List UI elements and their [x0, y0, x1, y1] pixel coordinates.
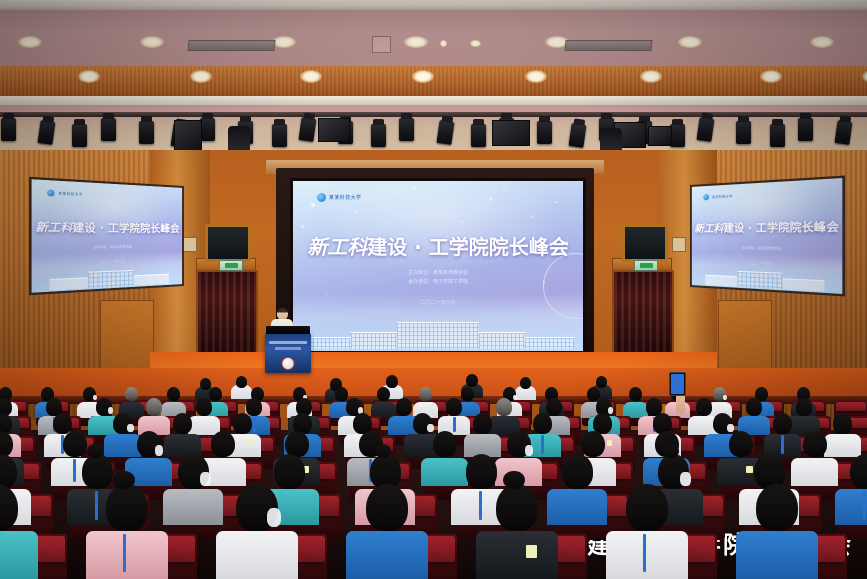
attendee-head [833, 413, 852, 434]
attendee-lanyard [253, 417, 256, 432]
attendee-face-mask [127, 424, 133, 433]
control-window-left [205, 224, 251, 262]
ceiling-downlight [525, 70, 547, 83]
panel-lamp-3 [492, 120, 530, 146]
left-side-screen: 某某科技大学 新工科建设 · 工学院院长峰会 主办单位：某某高校教务处 二〇二一… [29, 177, 184, 296]
control-window-right [622, 224, 668, 262]
sparkle [503, 189, 505, 191]
ceiling-downlight [404, 36, 428, 48]
attendee-head [746, 398, 762, 416]
attendee-head [196, 398, 212, 416]
left-screen-title: 新工科建设 · 工学院院长峰会 [32, 217, 183, 235]
attendee-lanyard [781, 435, 784, 453]
attendee-head [581, 431, 605, 458]
attendee-head gray [146, 398, 162, 416]
ceiling-downlight [810, 36, 834, 48]
left-screen-subtitle: 主办单位：某某高校教务处 [32, 244, 183, 250]
slide-subtitle-1: 主办单位：某某高校教务处 [293, 269, 583, 276]
ceiling-downlight [140, 36, 164, 48]
attendee-lanyard [541, 435, 544, 453]
raised-phone [669, 372, 686, 396]
attendee-head [377, 387, 390, 402]
sparkle [555, 201, 557, 203]
attendee-head [233, 413, 252, 434]
attendee-badge [746, 466, 752, 474]
attendee-face-mask [427, 424, 433, 433]
attendee-head [211, 431, 235, 458]
attendee-shoulders [421, 458, 468, 486]
slide-title-calligraphy: 新工科 [307, 235, 367, 259]
attendee-head gray [125, 387, 138, 402]
attendee-head [546, 398, 562, 416]
stage-light-fixture [298, 117, 316, 142]
podium [265, 333, 311, 373]
ceiling-upper-band [0, 10, 867, 66]
left-screen-title-block: 建设 · 工学院院长峰会 [72, 222, 179, 235]
attendee-shoulders [188, 416, 219, 435]
slide-main-title: 新工科建设 · 工学院院长峰会 [293, 231, 583, 260]
slide-title-block: 建设 · 工学院院长峰会 [367, 235, 569, 259]
logo-mark [703, 194, 709, 200]
attendee-head [446, 398, 462, 416]
attendee-head [246, 398, 262, 416]
stage-light-fixture [471, 124, 486, 147]
attendee-face-mask [155, 445, 163, 456]
attendee-badge [607, 440, 612, 446]
attendee-head-far [386, 375, 398, 388]
slide-university-logo: 某某科技大学 [317, 193, 361, 202]
main-projection-screen: 某某科技大学 新工科建设 · 工学院院长峰会 主办单位：某某高校教务处 承办单位… [290, 178, 586, 354]
attendee-badge [247, 440, 252, 446]
left-screen-illustration [32, 251, 183, 292]
attendee-face-mask [680, 472, 691, 486]
attendee-badge [526, 545, 537, 558]
podium-display-panel [266, 326, 310, 334]
attendee-shoulders [824, 434, 861, 457]
attendee-head [433, 431, 457, 458]
stage-light-fixture [101, 118, 116, 141]
podium-text-line-2 [275, 347, 301, 350]
sparkle [355, 211, 357, 213]
attendee-shoulders [736, 531, 818, 579]
attendee-head [209, 387, 222, 402]
attendee-shoulders [163, 489, 223, 525]
exit-sign-left [219, 260, 243, 271]
ceiling-downlight [18, 36, 42, 48]
attendee-face-mask [727, 424, 733, 433]
panel-lamp-1 [174, 120, 202, 152]
truss-bar [0, 112, 867, 117]
attendee-shoulders [547, 489, 607, 525]
attendee-shoulders [216, 531, 298, 579]
podium-text-line-1 [269, 341, 307, 344]
stage-light-fixture [1, 118, 16, 141]
panel-lamp-2 [318, 118, 350, 142]
attendee-head [335, 387, 348, 402]
attendee-lanyard [123, 534, 126, 572]
attendee-head [629, 387, 642, 402]
ceiling-downlight [760, 70, 782, 83]
ceiling-vent-left [187, 40, 275, 51]
logo-text: 某某科技大学 [712, 194, 733, 199]
right-screen-illustration [692, 252, 843, 294]
right-screen-logo: 某某科技大学 [703, 193, 732, 201]
stage-light-fixture [736, 121, 751, 144]
attendee-face-mask [200, 472, 211, 486]
sparkle [311, 203, 315, 207]
attendee-lanyard [95, 491, 98, 520]
attendee-shoulders [104, 434, 141, 457]
attendee-head [173, 413, 192, 434]
attendee-head-far [236, 376, 247, 388]
stage-light-fixture [670, 124, 685, 147]
logo-text: 某某科技大学 [329, 194, 361, 201]
stage-light-fixture [770, 124, 785, 147]
left-screen-title-calligraphy: 新工科 [35, 222, 72, 235]
wall-device-right [672, 237, 686, 252]
sparkle [489, 197, 493, 201]
logo-mark [317, 193, 326, 202]
attendee-shoulders [346, 531, 428, 579]
wall-device-left [183, 237, 197, 252]
logo-text: 某某科技大学 [58, 191, 83, 197]
sparkle [433, 205, 435, 207]
attendee-head [53, 413, 72, 434]
attendee-head-far [466, 374, 478, 387]
ceiling-downlight-small [470, 40, 481, 47]
ceiling-downlight [272, 36, 296, 48]
attendee-shoulders [476, 531, 558, 579]
stage-light-fixture [436, 120, 454, 145]
attendee-head [496, 484, 538, 531]
right-screen-title: 新工科建设 · 工学院院长峰会 [692, 217, 843, 235]
attendee-head [396, 398, 412, 416]
ceiling-vent-right [564, 40, 652, 51]
attendee-shoulders [606, 531, 688, 579]
attendee-head [756, 484, 798, 531]
attendee-face-mask [267, 508, 281, 527]
ceiling-downlight [640, 70, 662, 83]
attendee-lanyard [73, 459, 76, 481]
podium-emblem [282, 357, 295, 370]
ceiling-downlight [412, 70, 434, 83]
attendee-head [773, 413, 792, 434]
attendee-head-far [520, 377, 531, 389]
attendee-head gray [496, 398, 512, 416]
stage-light-fixture [834, 120, 852, 145]
attendee-shoulders [0, 531, 38, 579]
stage-light-fixture [72, 124, 87, 147]
attendee-head [63, 431, 87, 458]
stage-light-fixture [139, 121, 154, 144]
attendee-shoulders [86, 531, 168, 579]
ceiling-downlight [78, 70, 100, 83]
attendee-head [796, 398, 812, 416]
ceiling-downlight [678, 36, 702, 48]
attendee-head [106, 484, 148, 531]
stage-light-fixture [200, 118, 215, 141]
attendee-lanyard [453, 417, 456, 432]
attendee-lanyard [863, 491, 866, 520]
panel-lamp-5 [648, 126, 672, 146]
attendee-face-mask [525, 445, 533, 456]
attendee-lanyard [479, 491, 482, 520]
attendee-head [562, 454, 593, 489]
conference-hall-photo: 某某科技大学 新工科建设 · 工学院院长峰会 主办单位：某某高校教务处 承办单位… [0, 0, 867, 579]
right-screen-subtitle: 主办单位：某某高校教务处 [692, 245, 843, 251]
right-screen-title-calligraphy: 新工科 [694, 224, 723, 235]
left-screen-logo: 某某科技大学 [47, 189, 83, 197]
slide-subtitle-2: 承办单位：电子学院工学院 [293, 278, 583, 285]
sparkle [301, 225, 304, 228]
attendee-head [466, 454, 497, 489]
attendee-head-far [596, 376, 607, 388]
stage-light-fixture [371, 124, 386, 147]
logo-mark [47, 189, 55, 196]
attendee-head [729, 431, 753, 458]
attendee-lanyard [643, 534, 646, 572]
attendee-head-far [200, 378, 211, 390]
attendee-head [366, 484, 408, 531]
attendee-head [803, 431, 827, 458]
exit-sign-right [634, 260, 658, 271]
attendee-head [274, 454, 305, 489]
stage-light-fixture [798, 118, 813, 141]
attendee-head [626, 484, 668, 531]
ceiling-projector-box [372, 36, 391, 53]
right-screen-title-block: 建设 · 工学院院长峰会 [724, 222, 839, 235]
attendee-head [473, 413, 492, 434]
ceiling-downlight [190, 70, 212, 83]
stage-light-fixture [399, 118, 414, 141]
attendee-head [167, 387, 180, 402]
attendee-head [461, 387, 474, 402]
sparkle [531, 215, 534, 218]
attendee-head [696, 398, 712, 416]
ceiling-wood-band [0, 66, 867, 96]
sparkle [391, 193, 394, 196]
ceiling-trim-top [0, 0, 867, 10]
ceiling-downlight-small [440, 40, 447, 47]
ceiling-downlight [300, 70, 322, 83]
attendee-head [533, 413, 552, 434]
attendee-head [82, 454, 113, 489]
right-side-screen: 某某科技大学 新工科建设 · 工学院院长峰会 主办单位：某某高校教务处 二〇二一… [690, 176, 845, 297]
sparkle [461, 221, 463, 223]
slide-building-illustration [293, 293, 583, 351]
attendee-shoulders [791, 458, 838, 486]
stage-light-fixture [272, 124, 287, 147]
seat [836, 402, 866, 411]
attendee-head gray [419, 387, 432, 402]
sparkle [413, 187, 416, 190]
ceiling-trim-bottom [0, 96, 867, 105]
stage-light-fixture [537, 121, 552, 144]
